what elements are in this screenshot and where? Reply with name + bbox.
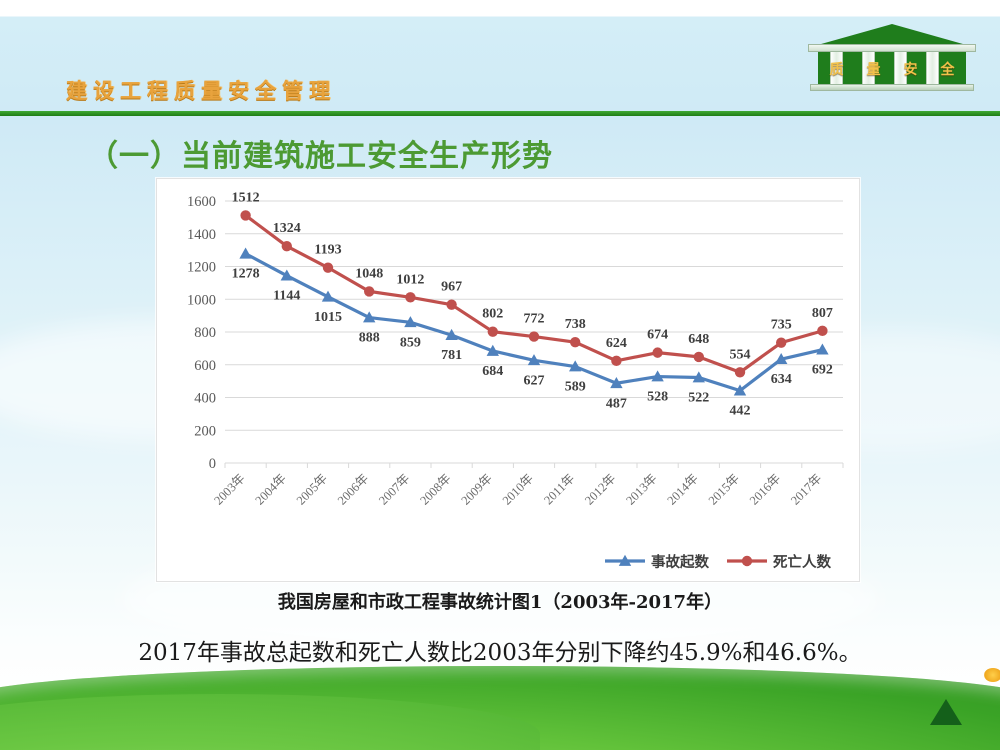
- header-title: 建设工程质量安全管理: [66, 75, 336, 105]
- data-label: 589: [565, 380, 586, 395]
- x-axis-category-label: 2009年: [458, 471, 494, 507]
- svg-text:2015年: 2015年: [706, 471, 742, 507]
- series-marker-死亡人数: [529, 331, 539, 341]
- svg-text:2014年: 2014年: [664, 471, 700, 507]
- data-label: 735: [771, 318, 792, 333]
- series-marker-死亡人数: [652, 347, 662, 357]
- series-marker-死亡人数: [817, 326, 827, 336]
- data-label: 627: [524, 373, 545, 388]
- legend-label: 死亡人数: [773, 553, 831, 571]
- data-label: 634: [771, 372, 792, 387]
- svg-text:2005年: 2005年: [294, 471, 330, 507]
- logo-roof: [814, 24, 970, 46]
- data-label: 442: [730, 404, 751, 419]
- x-axis-category-label: 2007年: [376, 471, 412, 507]
- svg-text:2004年: 2004年: [252, 471, 288, 507]
- data-label: 1144: [273, 289, 300, 304]
- series-marker-死亡人数: [446, 299, 456, 309]
- svg-text:2016年: 2016年: [747, 471, 783, 507]
- logo-char: 安: [904, 59, 918, 79]
- legend-label: 事故起数: [651, 553, 709, 571]
- logo-char: 全: [941, 59, 955, 79]
- x-axis-category-label: 2014年: [664, 471, 700, 507]
- header-divider: [0, 111, 1000, 116]
- chart-caption: 我国房屋和市政工程事故统计图1（2003年-2017年）: [0, 588, 1000, 614]
- logo-char: 量: [867, 59, 881, 79]
- svg-text:2003年: 2003年: [211, 471, 247, 507]
- series-marker-死亡人数: [364, 286, 374, 296]
- y-axis-tick-label: 200: [194, 423, 216, 439]
- data-label: 674: [647, 328, 668, 343]
- x-axis-category-label: 2008年: [417, 471, 453, 507]
- summary-text: 2017年事故总起数和死亡人数比2003年分别下降约45.9%和46.6%。: [0, 633, 1000, 667]
- series-marker-死亡人数: [570, 337, 580, 347]
- data-label: 1512: [232, 190, 260, 205]
- y-axis-tick-label: 1400: [187, 227, 216, 243]
- x-axis-category-label: 2011年: [541, 471, 577, 507]
- y-axis-tick-label: 1600: [187, 194, 216, 210]
- grass-decoration: [0, 666, 1000, 750]
- logo-base: [810, 84, 974, 91]
- series-marker-死亡人数: [776, 337, 786, 347]
- x-axis-category-label: 2006年: [335, 471, 371, 507]
- data-label: 802: [482, 307, 503, 322]
- y-axis-tick-label: 400: [194, 391, 216, 407]
- y-axis-tick-label: 600: [194, 358, 216, 374]
- svg-text:2007年: 2007年: [376, 471, 412, 507]
- svg-text:2013年: 2013年: [623, 471, 659, 507]
- legend-swatch-marker: [742, 556, 752, 566]
- chart-container: 020040060080010001200140016002003年2004年2…: [156, 178, 860, 582]
- x-axis-category-label: 2013年: [623, 471, 659, 507]
- data-label: 554: [730, 347, 751, 362]
- x-axis-category-label: 2003年: [211, 471, 247, 507]
- data-label: 522: [688, 391, 709, 406]
- data-label: 1324: [273, 221, 301, 236]
- page-title: （一）当前建筑施工安全生产形势: [88, 131, 553, 175]
- data-label: 1278: [232, 267, 260, 282]
- svg-text:2010年: 2010年: [500, 471, 536, 507]
- data-label: 528: [647, 390, 668, 405]
- series-marker-死亡人数: [282, 241, 292, 251]
- x-axis-category-label: 2010年: [500, 471, 536, 507]
- series-marker-事故起数: [239, 248, 251, 259]
- data-label: 738: [565, 317, 586, 332]
- data-label: 648: [688, 332, 709, 347]
- data-label: 859: [400, 335, 421, 350]
- data-label: 684: [482, 364, 503, 379]
- data-label: 1015: [314, 310, 342, 325]
- series-marker-事故起数: [816, 343, 828, 354]
- slide-canvas: 建设工程质量安全管理 质 量 安 全 （一）当前建筑施工安全生产形势 02004…: [0, 0, 1000, 750]
- chart-plot-area: 020040060080010001200140016002003年2004年2…: [157, 179, 861, 583]
- series-marker-死亡人数: [488, 326, 498, 336]
- data-label: 624: [606, 336, 627, 351]
- x-axis-category-label: 2005年: [294, 471, 330, 507]
- data-label: 888: [359, 331, 380, 346]
- sun-icon: [984, 668, 1000, 682]
- series-marker-死亡人数: [240, 210, 250, 220]
- svg-text:2009年: 2009年: [458, 471, 494, 507]
- data-label: 1048: [355, 266, 383, 281]
- x-axis-category-label: 2012年: [582, 471, 618, 507]
- data-label: 1012: [396, 272, 424, 287]
- x-axis-category-label: 2017年: [788, 471, 824, 507]
- series-marker-死亡人数: [694, 352, 704, 362]
- grass-hill-back: [0, 694, 540, 750]
- data-label: 772: [524, 312, 545, 327]
- series-marker-死亡人数: [611, 356, 621, 366]
- y-axis-tick-label: 800: [194, 325, 216, 341]
- y-axis-tick-label: 1200: [187, 260, 216, 276]
- series-marker-死亡人数: [735, 367, 745, 377]
- data-label: 487: [606, 396, 627, 411]
- data-label: 967: [441, 280, 462, 295]
- svg-text:2011年: 2011年: [541, 471, 577, 507]
- logo-entablature: [808, 44, 976, 52]
- logo-text: 质 量 安 全: [818, 56, 966, 82]
- x-axis-category-label: 2004年: [252, 471, 288, 507]
- accident-statistics-line-chart: 020040060080010001200140016002003年2004年2…: [157, 179, 861, 583]
- svg-text:2017年: 2017年: [788, 471, 824, 507]
- next-slide-arrow-icon[interactable]: [930, 699, 962, 725]
- y-axis-tick-label: 0: [209, 456, 216, 472]
- series-marker-死亡人数: [323, 262, 333, 272]
- data-label: 781: [441, 348, 462, 363]
- svg-text:2008年: 2008年: [417, 471, 453, 507]
- data-label: 807: [812, 306, 833, 321]
- x-axis-category-label: 2015年: [706, 471, 742, 507]
- svg-text:2012年: 2012年: [582, 471, 618, 507]
- data-label: 1193: [314, 243, 341, 258]
- temple-logo-icon: 质 量 安 全: [808, 24, 976, 94]
- data-label: 692: [812, 363, 833, 378]
- y-axis-tick-label: 1000: [187, 292, 216, 308]
- svg-text:2006年: 2006年: [335, 471, 371, 507]
- x-axis-category-label: 2016年: [747, 471, 783, 507]
- series-marker-死亡人数: [405, 292, 415, 302]
- logo-char: 质: [830, 59, 844, 79]
